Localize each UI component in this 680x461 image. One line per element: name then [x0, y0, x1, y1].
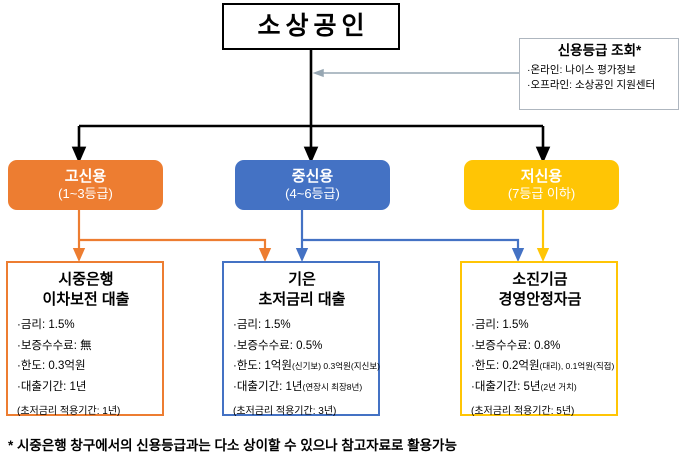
product-left-title: 시중은행 이차보전 대출	[17, 270, 155, 309]
tier-low-name: 저신용	[521, 168, 562, 185]
product-box-ibk-low-rate[interactable]: 기은 초저금리 대출 ·금리: 1.5% ·보증수수료: 0.5% ·한도: 1…	[222, 261, 380, 416]
product-mid-title: 기은 초저금리 대출	[233, 270, 371, 309]
credit-inquiry-offline-line: ·오프라인: 소상공인 지원센터	[527, 78, 672, 93]
product-box-commercial-bank[interactable]: 시중은행 이차보전 대출 ·금리: 1.5% ·보증수수료: 無 ·한도: 0.…	[6, 261, 164, 416]
root-title-box: 소상공인	[222, 3, 400, 50]
product-right-term: ·대출기간: 5년(2년 거치)	[471, 382, 609, 394]
tier-box-high-credit[interactable]: 고신용 (1~3등급)	[8, 160, 163, 210]
credit-inquiry-box: 신용등급 조회* ·온라인: 나이스 평가정보 ·오프라인: 소상공인 지원센터	[519, 38, 679, 110]
product-right-limit: ·한도: 0.2억원(대리), 0.1억원(직접)	[471, 361, 609, 373]
diagram-canvas: 소상공인 신용등급 조회* ·온라인: 나이스 평가정보 ·오프라인: 소상공인…	[0, 0, 680, 461]
product-box-sojin-fund[interactable]: 소진기금 경영안정자금 ·금리: 1.5% ·보증수수료: 0.8% ·한도: …	[460, 261, 618, 416]
product-right-guarantee-fee: ·보증수수료: 0.8%	[471, 341, 609, 353]
tier-high-grade: (1~3등급)	[58, 186, 113, 202]
connector-high-to-mid-product	[79, 240, 265, 255]
product-mid-guarantee-fee: ·보증수수료: 0.5%	[233, 341, 371, 353]
tier-high-name: 고신용	[65, 168, 106, 185]
tier-mid-grade: (4~6등급)	[285, 186, 340, 202]
tier-box-mid-credit[interactable]: 중신용 (4~6등급)	[235, 160, 390, 210]
product-left-term: ·대출기간: 1년	[17, 382, 155, 394]
root-title-label: 소상공인	[252, 14, 369, 39]
product-mid-limit: ·한도: 1억원(신기보) 0.3억원(지신보)	[233, 361, 371, 373]
tier-mid-name: 중신용	[292, 168, 333, 185]
product-left-guarantee-fee: ·보증수수료: 無	[17, 341, 155, 353]
credit-inquiry-online-line: ·온라인: 나이스 평가정보	[527, 63, 672, 78]
footnote-text: * 시중은행 창구에서의 신용등급과는 다소 상이할 수 있으나 참고자료로 활…	[8, 434, 457, 454]
product-right-note: (초저금리 적용기간: 5년)	[471, 402, 609, 417]
tier-box-low-credit[interactable]: 저신용 (7등급 이하)	[464, 160, 619, 210]
product-mid-rate: ·금리: 1.5%	[233, 320, 371, 332]
product-mid-term: ·대출기간: 1년(연장시 최장8년)	[233, 382, 371, 394]
connector-mid-to-right-product	[302, 240, 518, 255]
product-mid-note: (초저금리 적용기간: 3년)	[233, 402, 371, 417]
credit-inquiry-title: 신용등급 조회*	[527, 43, 672, 60]
product-right-rate: ·금리: 1.5%	[471, 320, 609, 332]
product-left-limit: ·한도: 0.3억원	[17, 361, 155, 373]
tier-low-grade: (7등급 이하)	[508, 186, 575, 202]
product-right-title: 소진기금 경영안정자금	[471, 270, 609, 309]
product-left-note: (초저금리 적용기간: 1년)	[17, 402, 155, 417]
product-left-rate: ·금리: 1.5%	[17, 320, 155, 332]
